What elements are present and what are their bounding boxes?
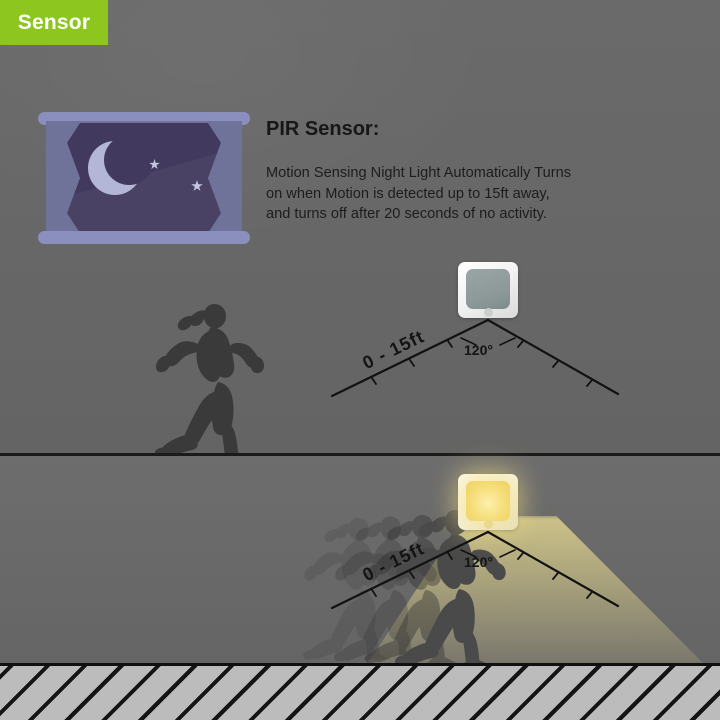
pir-description: Motion Sensing Night Light Automatically…	[266, 163, 646, 225]
pir-description-line-1: Motion Sensing Night Light Automatically…	[266, 163, 646, 184]
pir-description-line-3: and turns off after 20 seconds of no act…	[266, 204, 646, 225]
crescent-moon-icon	[88, 141, 142, 195]
night-window-illustration	[38, 112, 250, 244]
detection-range-diagram-triggered: 0 - 15ft 120°	[330, 528, 630, 610]
night-light-sensor-icon	[458, 262, 518, 318]
night-light-sensor-lit-icon	[458, 474, 518, 530]
angle-label: 120°	[464, 554, 493, 570]
detection-range-diagram: 0 - 15ft 120°	[330, 316, 630, 398]
floor-hatching	[0, 663, 720, 720]
sensor-badge-label: Sensor	[18, 11, 90, 35]
window-frame	[46, 121, 242, 234]
floor-strip	[0, 663, 720, 720]
runner-silhouette	[152, 300, 268, 458]
page-title: PIR Sensor:	[266, 118, 646, 141]
pir-info-block: PIR Sensor: Motion Sensing Night Light A…	[266, 118, 646, 225]
sensor-badge: Sensor	[0, 0, 108, 45]
sensor-panel-lit	[466, 481, 510, 521]
diagram-stage: PIR Sensor: Motion Sensing Night Light A…	[0, 0, 720, 720]
curtain-rod-bottom-icon	[38, 231, 250, 244]
sensor-panel	[466, 269, 510, 309]
pir-description-line-2: on when Motion is detected up to 15ft aw…	[266, 184, 646, 205]
night-sky	[54, 123, 234, 233]
angle-label: 120°	[464, 342, 493, 358]
